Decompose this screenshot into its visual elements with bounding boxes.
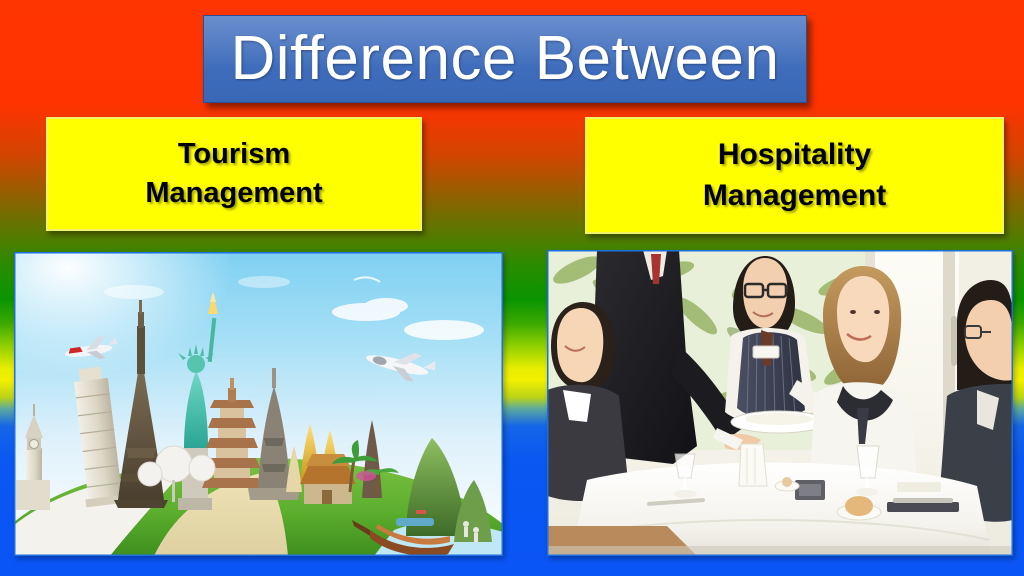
- label-hospitality-line-2: Management: [703, 176, 886, 216]
- hospitality-service-svg: [547, 250, 1013, 556]
- label-box-tourism: Tourism Management: [46, 117, 422, 231]
- cruet-set: [795, 480, 825, 500]
- label-tourism-line-1: Tourism: [178, 135, 290, 174]
- page-title: Difference Between: [231, 28, 780, 90]
- title-banner: Difference Between: [203, 15, 807, 103]
- slide-canvas: Difference Between Tourism Management Ho…: [0, 0, 1024, 576]
- tourism-collage-image: [14, 252, 503, 556]
- label-box-hospitality: Hospitality Management: [585, 117, 1004, 234]
- serving-plate: [731, 411, 827, 433]
- side-plate: [897, 482, 941, 492]
- name-badge: [753, 346, 779, 358]
- hospitality-service-image: [547, 250, 1013, 556]
- tourism-collage-svg: [14, 252, 503, 556]
- label-tourism-line-2: Management: [145, 174, 322, 213]
- label-hospitality-line-1: Hospitality: [718, 135, 871, 175]
- napkin: [739, 444, 767, 486]
